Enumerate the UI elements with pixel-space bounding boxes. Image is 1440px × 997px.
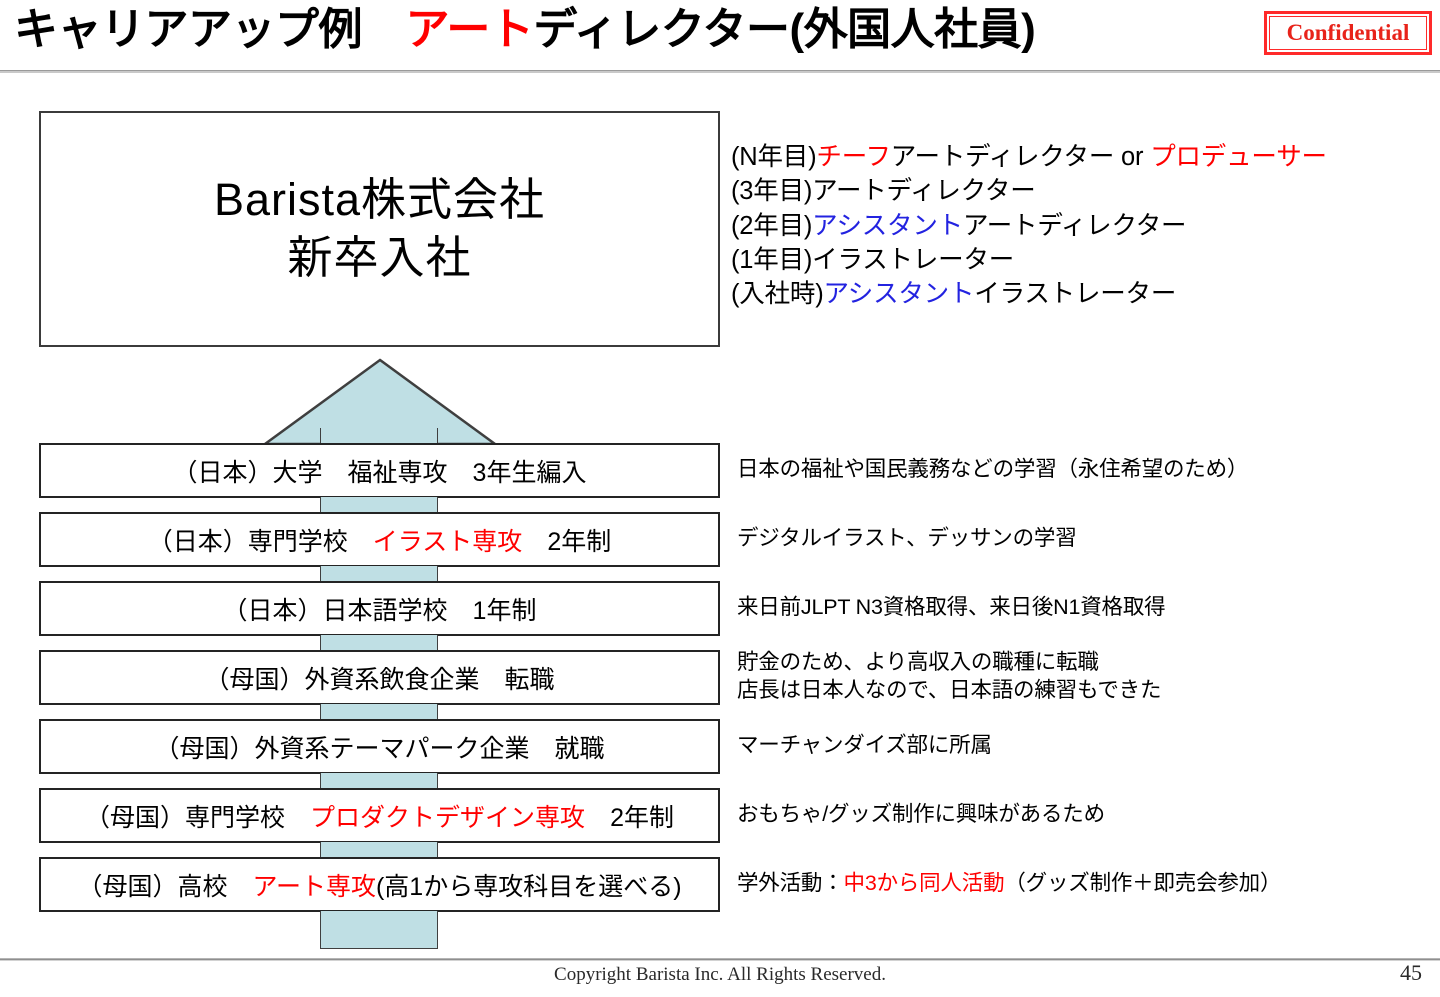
ladder-rung-6-label-segment-2: (高1から専攻科目を選べる) [376,873,682,901]
ladder-note-1-line-0-segment-0: デジタルイラスト、デッサンの学習 [737,526,1077,550]
ladder-connector-5 [320,773,438,789]
ladder-note-4-line-0-segment-0: マーチャンダイズ部に所属 [737,733,992,757]
ladder-rung-label-5: （母国）専門学校 プロダクトデザイン専攻 2年制 [85,798,674,834]
ladder-rung-6-label-segment-0: （母国）高校 [77,873,252,901]
ladder-note-3-line-0: 貯金のため、より高収入の職種に転職 [737,648,1427,677]
career-progression-list: (N年目)チーフアートディレクター or プロデューサー(3年目)アートディレク… [731,140,1391,311]
ladder-note-6-line-0-segment-1: 中3から同人活動 [844,871,1005,895]
career-row-period-1: (3年目) [731,177,812,205]
ladder-connector-4 [320,704,438,720]
ladder-note-5-line-0: おもちゃ/グッズ制作に興味があるため [737,800,1427,829]
ladder-rung-label-4: （母国）外資系テーマパーク企業 就職 [154,729,604,765]
career-row-0-title-segment-0: チーフ [816,143,890,171]
ladder-note-2-line-0: 来日前JLPT N3資格取得、来日後N1資格取得 [737,593,1427,622]
footer-divider [0,958,1440,961]
ladder-rung-3[interactable]: （母国）外資系飲食企業 転職 [39,650,720,705]
ladder-rung-6-label-segment-1: アート専攻 [252,873,376,901]
ladder-rung-0[interactable]: （日本）大学 福祉専攻 3年生編入 [39,443,720,498]
career-row-2: (2年目)アシスタントアートディレクター [731,209,1391,243]
career-row-0-title-segment-1: アートディレクター or [891,143,1150,171]
ladder-note-6-line-0: 学外活動：中3から同人活動（グッズ制作＋即売会参加） [737,869,1427,898]
career-row-4-title-segment-0: アシスタント [823,280,974,308]
ladder-connector-bottom-tail [320,911,438,949]
company-entry-type: 新卒入社 [287,229,471,287]
title-divider [0,70,1440,73]
ladder-note-2: 来日前JLPT N3資格取得、来日後N1資格取得 [737,593,1427,622]
career-row-2-title-segment-1: アートディレクター [963,212,1186,240]
page-title-highlight: アート [406,5,534,54]
ladder-rung-0-label-segment-0: （日本）大学 福祉専攻 3年生編入 [173,459,587,487]
footer-copyright: Copyright Barista Inc. All Rights Reserv… [0,964,1440,986]
ladder-note-0-line-0-segment-0: 日本の福祉や国民義務などの学習（永住希望のため） [737,457,1248,481]
ladder-rung-1[interactable]: （日本）専門学校 イラスト専攻 2年制 [39,512,720,567]
confidential-badge-inner: Confidential [1269,16,1427,50]
ladder-rung-1-label-segment-0: （日本）専門学校 [148,528,373,556]
ladder-rung-label-6: （母国）高校 アート専攻(高1から専攻科目を選べる) [77,867,681,903]
career-row-4-title-segment-1: イラストレーター [974,280,1176,308]
ladder-note-1-line-0: デジタルイラスト、デッサンの学習 [737,524,1427,553]
ladder-rung-5[interactable]: （母国）専門学校 プロダクトデザイン専攻 2年制 [39,788,720,843]
ladder-note-3-line-1-segment-0: 店長は日本人なので、日本語の練習もできた [737,678,1161,702]
ladder-note-5: おもちゃ/グッズ制作に興味があるため [737,800,1427,829]
ladder-note-5-line-0-segment-0: おもちゃ/グッズ制作に興味があるため [737,802,1105,826]
ladder-note-6: 学外活動：中3から同人活動（グッズ制作＋即売会参加） [737,869,1427,898]
ladder-note-0-line-0: 日本の福祉や国民義務などの学習（永住希望のため） [737,455,1427,484]
confidential-label: Confidential [1287,20,1410,46]
ladder-rung-3-label-segment-0: （母国）外資系飲食企業 転職 [204,666,554,694]
ladder-note-3: 貯金のため、より高収入の職種に転職店長は日本人なので、日本語の練習もできた [737,648,1427,705]
page-title-part-2: ディレクター(外国人社員) [533,5,1035,54]
ladder-rung-4-label-segment-0: （母国）外資系テーマパーク企業 就職 [154,735,604,763]
page-title-part-1: キャリアアップ例 [14,5,406,54]
ladder-rung-label-0: （日本）大学 福祉専攻 3年生編入 [173,453,587,489]
ladder-note-0: 日本の福祉や国民義務などの学習（永住希望のため） [737,455,1427,484]
ladder-rung-5-label-segment-0: （母国）専門学校 [85,804,310,832]
ladder-note-4-line-0: マーチャンダイズ部に所属 [737,731,1427,760]
career-row-2-title-segment-0: アシスタント [812,212,963,240]
ladder-note-1: デジタルイラスト、デッサンの学習 [737,524,1427,553]
confidential-badge: Confidential [1264,11,1432,55]
ladder-rung-1-label-segment-2: 2年制 [522,528,611,556]
ladder-connector-6 [320,842,438,858]
slide-canvas: キャリアアップ例 アートディレクター(外国人社員) Confidential B… [0,0,1440,997]
page-title: キャリアアップ例 アートディレクター(外国人社員) [14,4,1035,56]
ladder-rung-2-label-segment-0: （日本）日本語学校 1年制 [223,597,537,625]
company-box: Barista株式会社 新卒入社 [39,111,720,347]
ladder-note-3-line-0-segment-0: 貯金のため、より高収入の職種に転職 [737,650,1099,674]
career-row-period-2: (2年目) [731,212,812,240]
career-row-4: (入社時)アシスタントイラストレーター [731,277,1391,311]
page-number: 45 [1400,960,1422,986]
ladder-rung-1-label-segment-1: イラスト専攻 [373,528,523,556]
ladder-rung-5-label-segment-2: 2年制 [585,804,674,832]
career-row-period-3: (1年目) [731,246,812,274]
ladder-note-6-line-0-segment-2: （グッズ制作＋即売会参加） [1004,871,1281,895]
ladder-note-4: マーチャンダイズ部に所属 [737,731,1427,760]
ladder-note-2-line-0-segment-0: 来日前JLPT N3資格取得、来日後N1資格取得 [737,595,1165,619]
ladder-rung-label-3: （母国）外資系飲食企業 転職 [204,660,554,696]
career-row-3-title-segment-0: イラストレーター [812,246,1014,274]
ladder-rung-label-1: （日本）専門学校 イラスト専攻 2年制 [148,522,611,558]
ladder-rung-6[interactable]: （母国）高校 アート専攻(高1から専攻科目を選べる) [39,857,720,912]
career-row-0-title-segment-2: プロデューサー [1150,143,1327,171]
company-name: Barista株式会社 [214,171,545,229]
ladder-connector-3 [320,635,438,651]
career-row-period-4: (入社時) [731,280,823,308]
ladder-note-6-line-0-segment-0: 学外活動： [737,871,844,895]
ladder-rung-4[interactable]: （母国）外資系テーマパーク企業 就職 [39,719,720,774]
career-row-0: (N年目)チーフアートディレクター or プロデューサー [731,140,1391,174]
ladder-rung-2[interactable]: （日本）日本語学校 1年制 [39,581,720,636]
ladder-rung-label-2: （日本）日本語学校 1年制 [223,591,537,627]
ladder-connector-1 [320,497,438,513]
ladder-connector-2 [320,566,438,582]
ladder-note-3-line-1: 店長は日本人なので、日本語の練習もできた [737,676,1427,705]
career-row-1-title-segment-0: アートディレクター [812,177,1035,205]
career-row-period-0: (N年目) [731,143,816,171]
ladder-connector-top [320,428,438,444]
ladder-rung-5-label-segment-1: プロダクトデザイン専攻 [310,804,585,832]
career-row-3: (1年目)イラストレーター [731,243,1391,277]
career-row-1: (3年目)アートディレクター [731,174,1391,208]
